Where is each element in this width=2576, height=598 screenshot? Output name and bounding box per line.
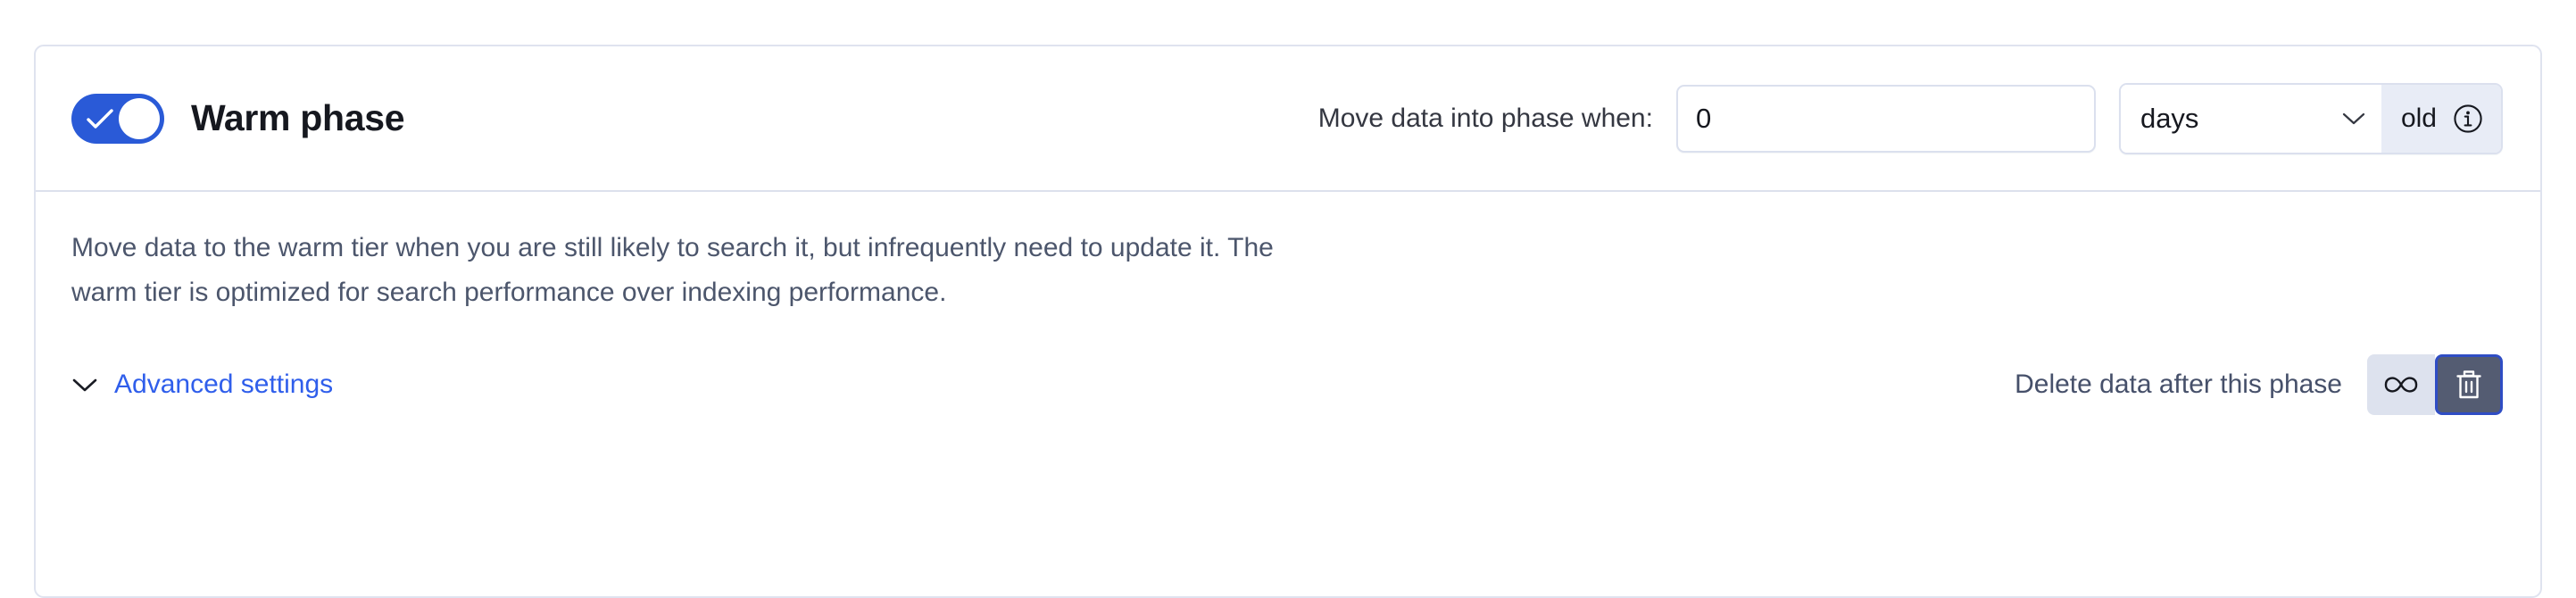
toggle-knob (119, 98, 160, 139)
trash-icon (2454, 368, 2484, 402)
warm-phase-screen: Warm phase Move data into phase when: da… (0, 0, 2576, 530)
unit-suffix-label: old (2401, 104, 2437, 134)
unit-select-value: days (2140, 103, 2198, 135)
delete-data-control: Delete data after this phase (2015, 354, 2503, 415)
phase-footer-row: Advanced settings Delete data after this… (71, 354, 2503, 415)
phase-description: Move data to the warm tier when you are … (71, 226, 1303, 315)
phase-header-left: Warm phase (71, 94, 404, 144)
phase-header-controls: Move data into phase when: days old (1318, 83, 2503, 154)
keep-forever-button[interactable] (2367, 354, 2435, 415)
phase-card-header: Warm phase Move data into phase when: da… (36, 46, 2540, 192)
unit-suffix-append: old (2381, 85, 2501, 153)
page-title: Warm phase (191, 97, 404, 139)
check-icon (87, 108, 113, 129)
move-data-label: Move data into phase when: (1318, 104, 1653, 134)
chevron-down-icon (71, 377, 98, 393)
infinity-icon (2381, 373, 2421, 396)
info-circle-icon[interactable] (2453, 104, 2483, 134)
warm-phase-toggle[interactable] (71, 94, 164, 144)
min-age-unit-group: days old (2119, 83, 2503, 154)
delete-data-button[interactable] (2435, 354, 2503, 415)
warm-phase-card: Warm phase Move data into phase when: da… (34, 45, 2542, 598)
chevron-down-icon (2342, 112, 2365, 126)
delete-data-button-group (2367, 354, 2503, 415)
delete-data-label: Delete data after this phase (2015, 370, 2342, 400)
phase-card-body: Move data to the warm tier when you are … (36, 192, 2540, 415)
advanced-settings-label: Advanced settings (114, 370, 333, 400)
min-age-input[interactable] (1676, 85, 2096, 153)
unit-select[interactable]: days (2121, 85, 2381, 153)
advanced-settings-toggle[interactable]: Advanced settings (71, 370, 333, 400)
